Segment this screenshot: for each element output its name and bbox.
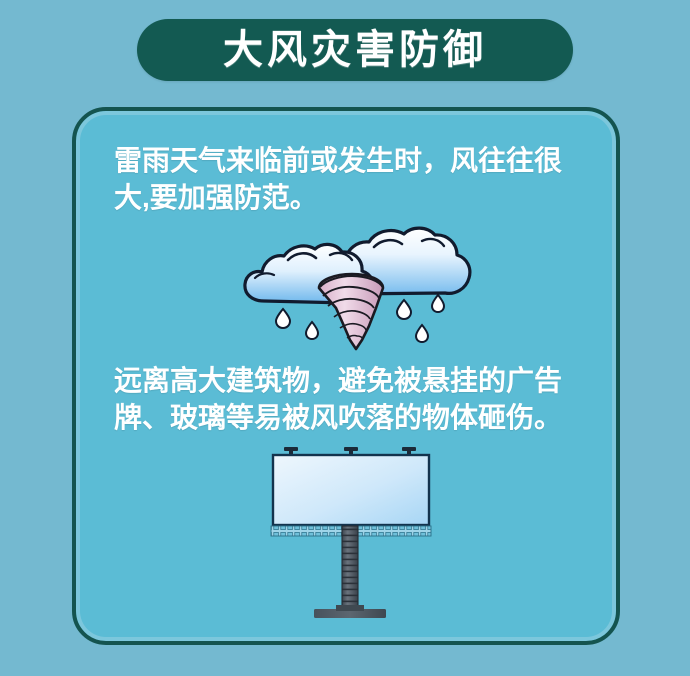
billboard-illustration-svg xyxy=(266,441,436,626)
storm-illustration-svg xyxy=(226,216,476,351)
tornado-icon xyxy=(319,274,383,349)
title-banner: 大风灾害防御 xyxy=(137,19,573,81)
billboard-panel xyxy=(273,455,429,525)
storm-illustration xyxy=(226,216,476,351)
page-title: 大风灾害防御 xyxy=(223,30,487,70)
paragraph-thunderstorm-wind-warning: 雷雨天气来临前或发生时，风往往很大,要加强防范。 xyxy=(114,143,594,217)
poster-root: 大风灾害防御 雷雨天气来临前或发生时，风往往很大,要加强防范。 xyxy=(0,0,690,676)
billboard-pole xyxy=(342,526,358,612)
billboard-illustration xyxy=(266,441,436,626)
billboard-base-plate xyxy=(314,605,386,618)
content-card: 雷雨天气来临前或发生时，风往往很大,要加强防范。 xyxy=(72,107,620,645)
paragraph-stay-away-from-buildings: 远离高大建筑物，避免被悬挂的广告牌、玻璃等易被风吹落的物体砸伤。 xyxy=(114,363,594,437)
